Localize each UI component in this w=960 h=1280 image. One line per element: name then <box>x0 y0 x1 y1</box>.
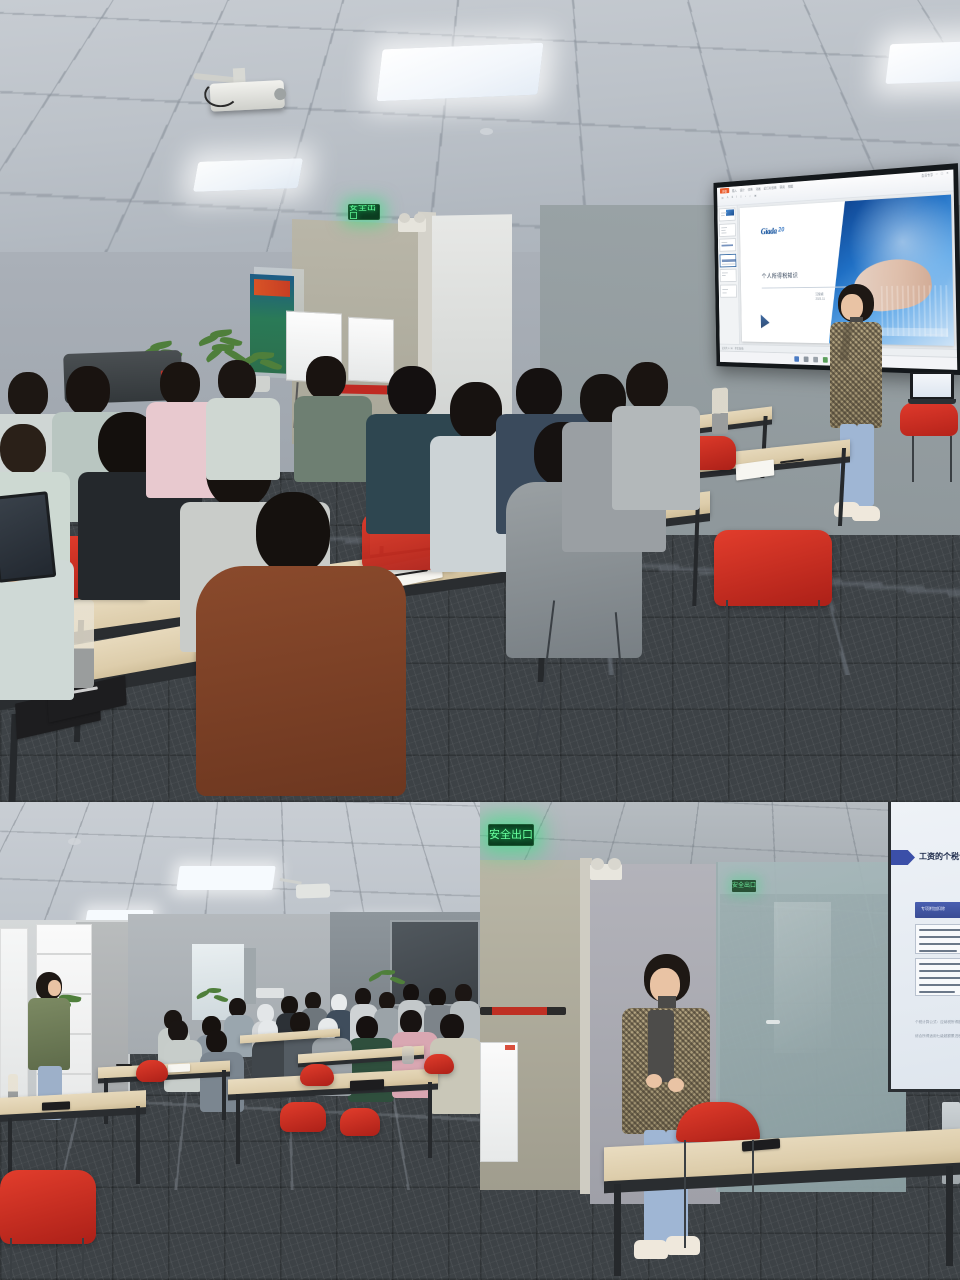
bullet-icon[interactable]: • <box>745 194 746 198</box>
ceiling-light <box>377 43 544 102</box>
emergency-light <box>590 864 622 880</box>
chair-legs <box>10 1238 84 1280</box>
slide-footnote: 综合所得适用七级超额累进税率 <box>915 1034 960 1039</box>
smoke-detector-icon <box>480 128 493 135</box>
ceiling-projector <box>195 66 293 117</box>
chair <box>714 530 832 606</box>
slide-callout-label: 专项附加扣除 <box>921 906 945 912</box>
language-indicator: 中文(简体) <box>735 346 744 350</box>
ribbon-tab[interactable]: 动画 <box>756 186 761 191</box>
ceiling-light <box>193 158 303 192</box>
slide-indicator: 幻灯片 1 / 26 <box>722 346 733 350</box>
desk-leg <box>222 1070 226 1120</box>
poster-banner <box>254 279 290 297</box>
window-controls[interactable]: 会员专享 ─ ▢ ✕ <box>921 171 948 178</box>
exit-sign-label: 安全出口 <box>489 830 533 841</box>
door-push-bar <box>480 1007 566 1015</box>
chair <box>900 402 958 436</box>
chair <box>300 1064 334 1086</box>
slide-thumbnail[interactable] <box>719 238 736 252</box>
chair-legs <box>912 436 952 482</box>
chair <box>0 1170 96 1244</box>
projection-screen: 工资的个税计算 专项附加扣除 个税计算公式：应纳税所得额 × 税率 - 速算扣除… <box>888 802 960 1092</box>
slide-heading: 工资的个税计算 <box>919 851 960 862</box>
brand-wordmark: Giada <box>761 226 777 236</box>
host-face <box>48 980 61 996</box>
presenter-laptop <box>908 372 956 406</box>
trainer-hand <box>668 1078 684 1092</box>
host-blazer <box>28 998 70 1070</box>
slide-title: 个人所得税知识 <box>762 271 799 280</box>
italic-icon[interactable]: I <box>736 195 737 199</box>
tumbler <box>712 387 728 434</box>
chair <box>280 1102 326 1132</box>
chair <box>340 1108 380 1136</box>
exit-sign: 安全出口 <box>488 824 534 846</box>
pen <box>116 1064 132 1066</box>
start-icon[interactable] <box>794 356 799 362</box>
projector-lens-icon <box>274 88 287 101</box>
slide-thumbnail[interactable] <box>719 207 736 221</box>
desk-leg <box>946 1166 953 1266</box>
trainer-figure <box>818 284 888 552</box>
wall-sign <box>256 988 284 998</box>
brand-logo: Giada 20 <box>761 226 785 236</box>
smartphone <box>42 1101 70 1110</box>
ceiling-light <box>885 40 960 84</box>
exit-sign-label: 安全出口 <box>349 204 379 220</box>
desk-leg <box>236 1094 240 1164</box>
anniversary-mark: 20 <box>778 227 784 234</box>
close-icon[interactable]: ✕ <box>946 171 949 176</box>
tablet <box>0 491 56 583</box>
smoke-detector-icon <box>68 838 81 845</box>
chair-legs <box>726 600 820 688</box>
cityscape-graphic <box>881 285 949 336</box>
align-icon[interactable]: ≡ <box>740 195 741 199</box>
flipchart-tab <box>505 1045 515 1050</box>
ceiling-projector <box>296 883 330 898</box>
photo-collage: 安全出口 <box>0 0 960 1280</box>
exit-sign-secondary: 安全出口 <box>732 880 756 892</box>
color-icon[interactable]: ▣ <box>754 194 756 198</box>
slide-thumbnail[interactable] <box>719 223 736 237</box>
member-badge[interactable]: 会员专享 <box>921 172 933 178</box>
minimize-icon[interactable]: ─ <box>936 172 938 177</box>
slide-thumbnail-pane[interactable] <box>717 206 739 345</box>
desk-leg <box>614 1184 621 1276</box>
ceiling-light <box>176 866 275 890</box>
trainer-leg <box>857 424 874 506</box>
slide-footer-url: www.giadatech.com <box>925 333 945 336</box>
whiteboard <box>348 317 394 383</box>
slide-text-block <box>915 958 960 996</box>
search-icon[interactable] <box>804 356 809 362</box>
trainer-hand <box>646 1074 662 1088</box>
laptop-base <box>908 399 956 404</box>
paste-icon[interactable]: ▤ <box>721 196 723 200</box>
slide-callout-box: 专项附加扣除 <box>915 902 960 918</box>
slide-corner-accent <box>760 314 769 328</box>
flipchart <box>480 1042 518 1162</box>
chevron-bullet-icon <box>889 850 915 865</box>
desk-leg <box>428 1082 432 1158</box>
window-frame <box>244 948 256 1004</box>
ribbon-tab[interactable]: 设计 <box>740 187 745 192</box>
maximize-icon[interactable]: ▢ <box>941 171 944 176</box>
laptop-screen <box>913 374 951 397</box>
slide-thumbnail-active[interactable] <box>720 253 737 267</box>
ribbon-tab-list[interactable]: 开始 插入 设计 切换 动画 幻灯片放映 审阅 视图 <box>720 183 793 194</box>
ribbon-tab[interactable]: 插入 <box>732 188 737 193</box>
ribbon-command-row[interactable]: ▤ A B I ≡ • ◇ ▣ <box>721 194 756 200</box>
paper-cup <box>402 1046 414 1064</box>
slide-thumbnail[interactable] <box>720 269 737 282</box>
chair-legs <box>684 1140 754 1248</box>
chair <box>136 1060 168 1082</box>
trainer-inner-top <box>648 1010 674 1082</box>
bold-icon[interactable]: B <box>732 195 734 199</box>
collage-panel-top: 安全出口 <box>0 0 960 802</box>
door-handle[interactable] <box>766 1020 780 1024</box>
trainer-blazer <box>830 322 882 428</box>
collage-panel-bottom-left <box>0 802 480 1280</box>
exit-sign-label: 安全出口 <box>732 883 756 889</box>
slide-text-block <box>915 924 960 954</box>
notebook <box>168 1063 190 1072</box>
laptop-lid <box>910 372 954 400</box>
ribbon-tab[interactable]: 审阅 <box>780 184 785 189</box>
trainer-shoe <box>634 1240 668 1259</box>
desk-leg <box>136 1106 140 1184</box>
ribbon-tab[interactable]: 幻灯片放映 <box>764 185 777 190</box>
slide-footnote: 个税计算公式：应纳税所得额 × 税率 - 速算扣除数 <box>915 1020 960 1025</box>
chair <box>424 1054 454 1074</box>
font-size-icon[interactable]: A <box>727 196 729 200</box>
ribbon-tab[interactable]: 切换 <box>748 186 753 191</box>
emergency-light <box>398 218 426 232</box>
trainer-shoe <box>852 506 880 521</box>
shape-icon[interactable]: ◇ <box>749 194 751 198</box>
ribbon-tab-active[interactable]: 开始 <box>720 188 729 194</box>
ribbon-tab[interactable]: 视图 <box>788 183 793 188</box>
collage-panel-bottom-right: 安全出口 安全出口 工资的个税计算 专项附加扣除 <box>480 802 960 1280</box>
slide-thumbnail[interactable] <box>720 284 737 297</box>
exit-sign: 安全出口 <box>348 204 380 220</box>
notebook <box>350 1079 384 1091</box>
